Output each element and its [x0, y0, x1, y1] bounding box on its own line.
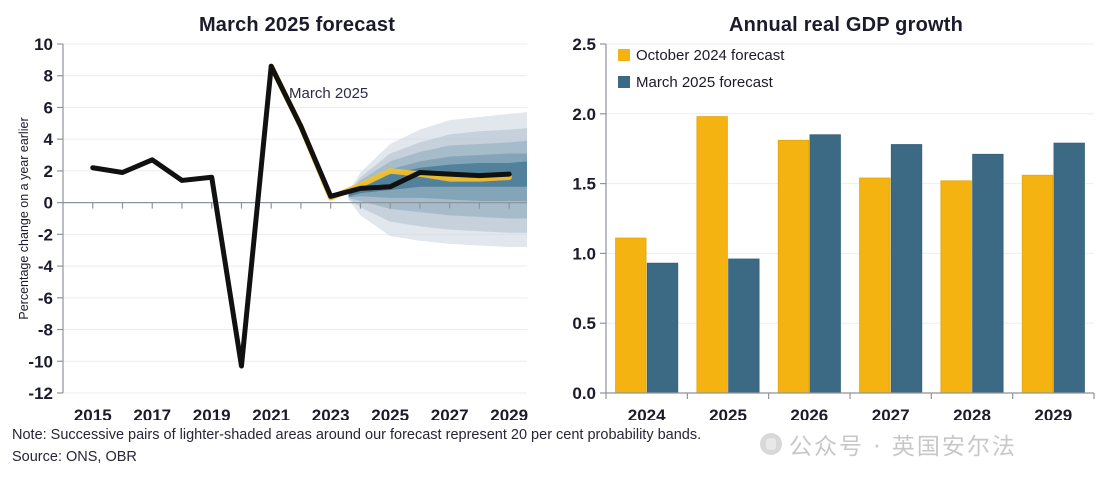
y-axis-tick-label: 2: [44, 162, 53, 181]
bar-march-2025-forecast-2026: [810, 135, 841, 393]
x-axis-tick-label: 2024: [628, 406, 666, 420]
y-axis-tick-label: 8: [44, 67, 53, 86]
footer: Note: Successive pairs of lighter-shaded…: [12, 424, 1102, 468]
y-axis-tick-label: 2.0: [572, 105, 596, 124]
right-chart-panel: Annual real GDP growth 20242025202620272…: [554, 0, 1108, 420]
march-2025-annotation: March 2025: [289, 85, 368, 102]
legend-swatch-2: [618, 76, 630, 88]
bar-march-2025-forecast-2024: [647, 263, 678, 393]
chart-page: March 2025 forecast 1086420-2-4-6-8-10-1…: [0, 0, 1108, 482]
y-axis-tick-label: 1.5: [572, 175, 596, 194]
left-chart-panel: March 2025 forecast 1086420-2-4-6-8-10-1…: [0, 0, 554, 420]
bar-october-2024-forecast-2029: [1022, 175, 1053, 393]
x-axis-tick-label: 2019: [193, 406, 231, 420]
y-axis-tick-label: -4: [38, 257, 54, 276]
legend-label-1: October 2024 forecast: [636, 47, 785, 64]
x-axis-tick-label: 2028: [953, 406, 991, 420]
footer-source: Source: ONS, OBR: [12, 446, 1102, 468]
y-axis-tick-label: 10: [34, 35, 53, 54]
y-axis-tick-label: 6: [44, 98, 53, 117]
x-axis-tick-label: 2017: [133, 406, 171, 420]
x-axis-tick-label: 2027: [431, 406, 469, 420]
y-axis-tick-label: -2: [38, 225, 53, 244]
y-axis-tick-label: 2.5: [572, 35, 596, 54]
x-axis-tick-label: 2025: [371, 406, 409, 420]
y-axis-tick-label: 0.5: [572, 314, 596, 333]
y-axis-tick-label: 4: [44, 130, 54, 149]
x-axis-tick-label: 2015: [74, 406, 112, 420]
x-axis-tick-label: 2025: [709, 406, 747, 420]
bar-march-2025-forecast-2027: [891, 145, 922, 393]
bar-march-2025-forecast-2028: [973, 154, 1004, 393]
x-axis-tick-label: 2029: [1034, 406, 1072, 420]
bar-chart-svg: 2024202520262027202820290.00.51.01.52.02…: [554, 0, 1108, 420]
y-axis-tick-label: -10: [28, 352, 53, 371]
bar-october-2024-forecast-2027: [860, 178, 891, 393]
x-axis-tick-label: 2021: [252, 406, 290, 420]
fan-chart-svg: 1086420-2-4-6-8-10-122015201720192021202…: [0, 0, 554, 420]
x-axis-tick-label: 2023: [312, 406, 350, 420]
footer-note: Note: Successive pairs of lighter-shaded…: [12, 424, 1102, 446]
x-axis-tick-label: 2026: [790, 406, 828, 420]
x-axis-tick-label: 2027: [872, 406, 910, 420]
y-axis-tick-label: -6: [38, 289, 53, 308]
bar-october-2024-forecast-2024: [616, 238, 647, 393]
y-axis-tick-label: -8: [38, 321, 53, 340]
y-axis-tick-label: -12: [28, 384, 53, 403]
bar-october-2024-forecast-2028: [941, 181, 972, 393]
y-axis-tick-label: 0: [44, 194, 53, 213]
bar-october-2024-forecast-2025: [697, 117, 728, 393]
y-axis-tick-label: 0.0: [572, 384, 596, 403]
legend-label-2: March 2025 forecast: [636, 74, 774, 91]
y-axis-tick-label: 1.0: [572, 244, 596, 263]
x-axis-tick-label: 2029: [490, 406, 528, 420]
bar-march-2025-forecast-2029: [1054, 143, 1085, 393]
bar-march-2025-forecast-2025: [729, 259, 760, 393]
legend-swatch-1: [618, 49, 630, 61]
y-axis-label: Percentage change on a year earlier: [17, 117, 31, 319]
bar-october-2024-forecast-2026: [778, 140, 809, 393]
